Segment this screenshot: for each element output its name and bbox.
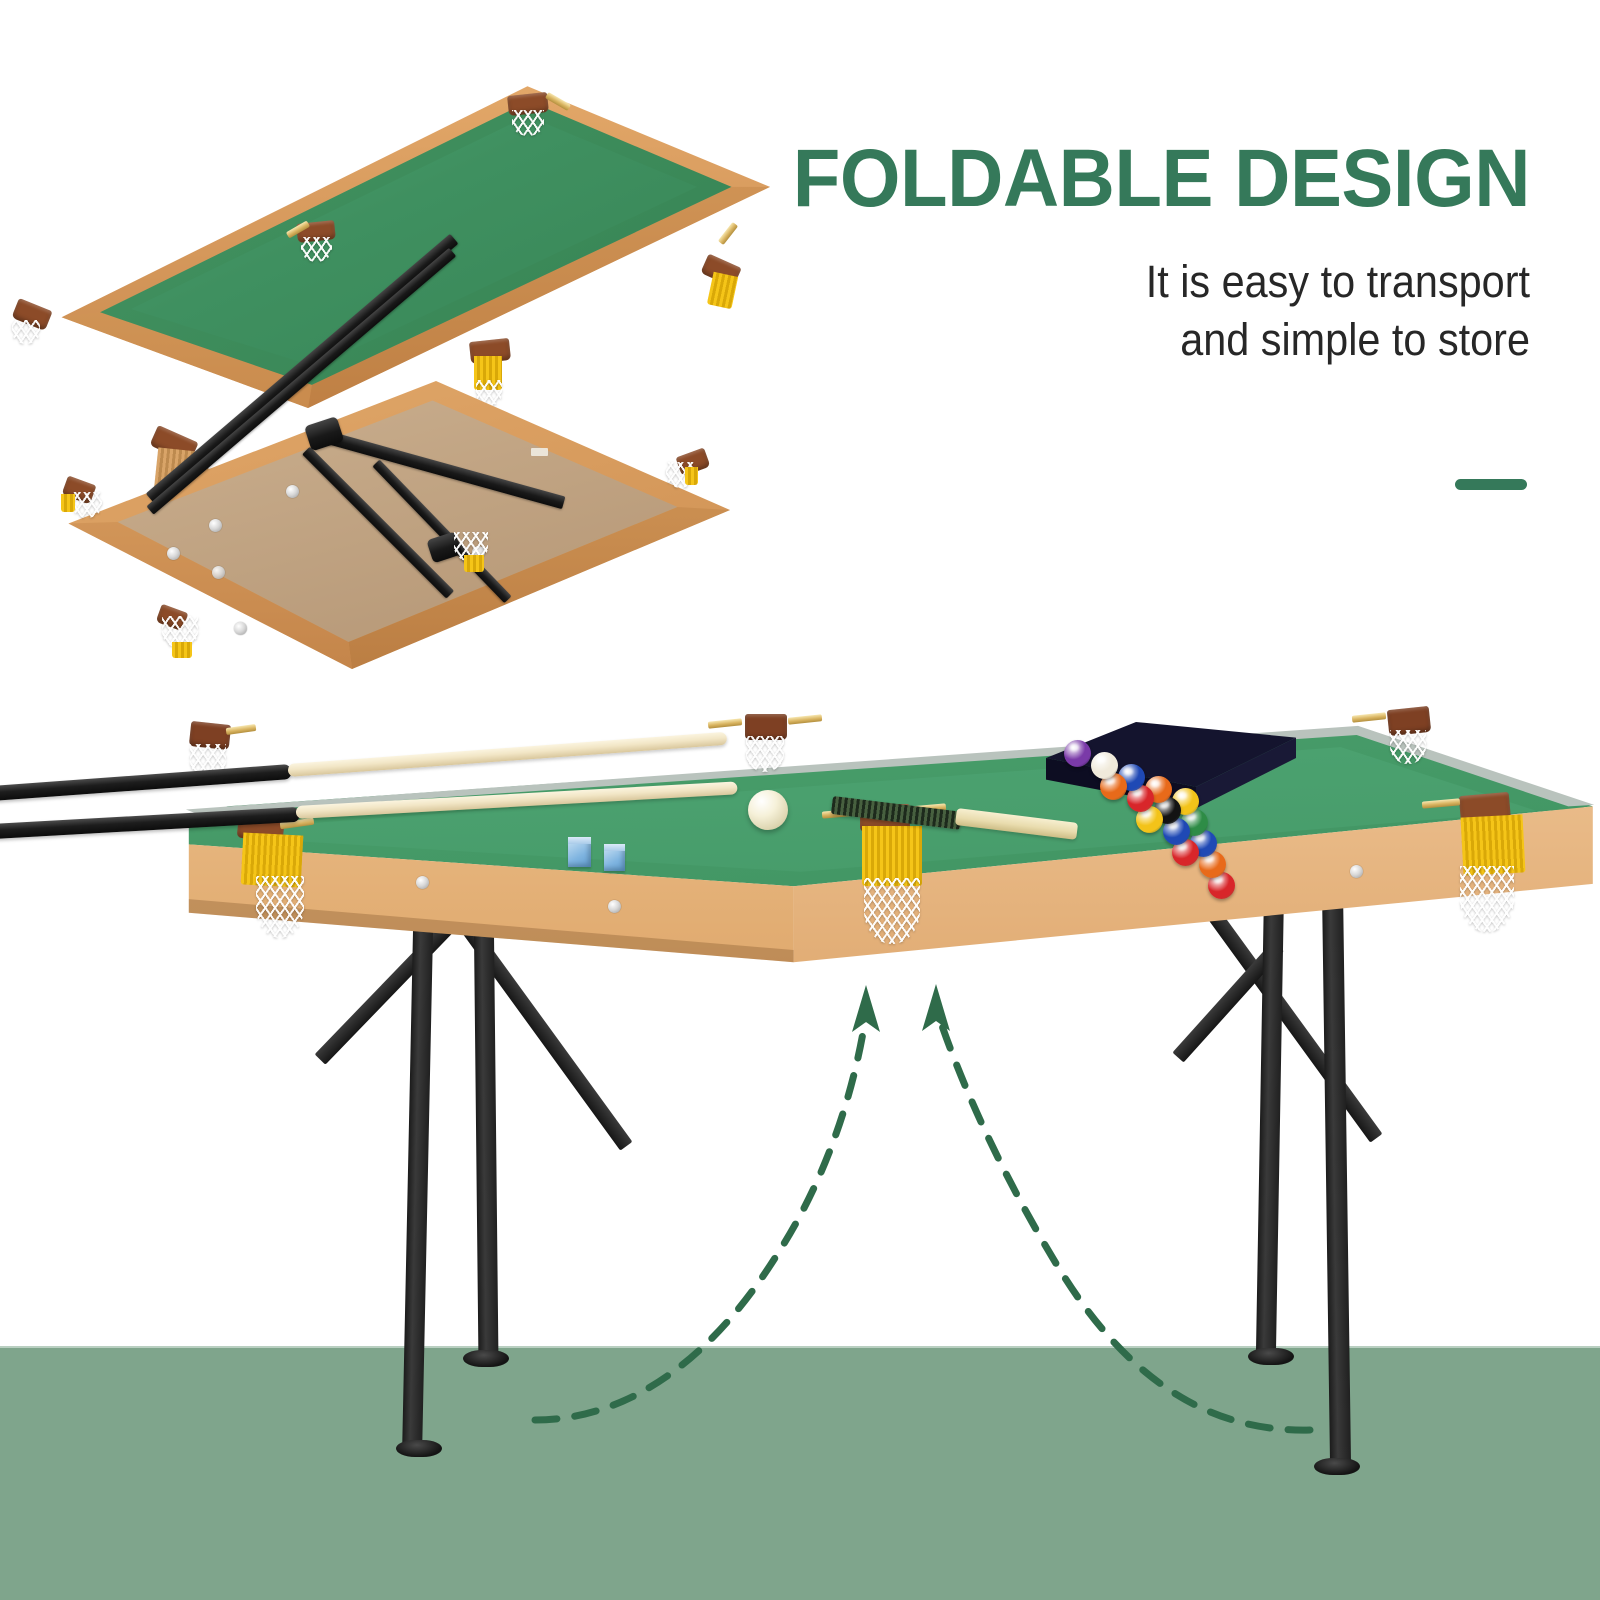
product-image-canvas: FOLDABLE DESIGN It is easy to transport … <box>0 0 1600 1600</box>
hardware-screw <box>286 485 299 498</box>
hardware-screw <box>234 622 247 635</box>
hardware-screw <box>416 876 429 889</box>
accent-dash <box>1455 479 1527 490</box>
assembled-pool-table <box>160 700 1600 1460</box>
leg-foot-cap <box>1248 1348 1294 1365</box>
pocket-net <box>256 876 304 938</box>
pocket-fringe <box>172 642 192 658</box>
pocket-net <box>1460 866 1514 932</box>
billiard-ball-1 <box>1064 740 1091 767</box>
billiard-ball-2 <box>1091 752 1118 779</box>
pocket-fringe <box>685 467 698 485</box>
rack-ball-group <box>1046 722 1296 842</box>
subtitle-line-1: It is easy to transport <box>794 253 1530 312</box>
pocket-net <box>301 237 332 262</box>
headline-block: FOLDABLE DESIGN It is easy to transport … <box>730 140 1530 370</box>
chalk-cube <box>604 850 625 871</box>
pocket-net <box>746 736 784 772</box>
pocket-fringe <box>707 272 738 309</box>
hardware-screw <box>608 900 621 913</box>
hardware-screw <box>167 547 180 560</box>
hardware-screw <box>1350 865 1363 878</box>
pocket-net <box>512 110 544 136</box>
hardware-screw <box>209 519 222 532</box>
pocket-net <box>12 320 40 344</box>
page-subtitle: It is easy to transport and simple to st… <box>794 253 1530 370</box>
cue-ball <box>748 790 788 830</box>
gold-pocket-plate <box>788 714 823 725</box>
pocket-net <box>72 492 102 518</box>
product-label <box>531 448 548 456</box>
folded-table-top-view <box>0 78 770 408</box>
page-title: FOLDABLE DESIGN <box>770 140 1530 219</box>
cue-stick-butt <box>0 764 292 801</box>
table-leg <box>1322 886 1351 1466</box>
leg-diagonal-brace <box>315 918 458 1065</box>
chalk-top-face <box>568 837 591 844</box>
folded-table-underside-view <box>30 372 730 672</box>
hardware-screw <box>212 566 225 579</box>
pocket-net <box>864 878 920 944</box>
chalk-cube <box>568 843 591 867</box>
leg-foot-cap <box>396 1440 442 1457</box>
pocket-net <box>1390 730 1426 764</box>
pocket-fringe <box>464 555 484 572</box>
pocket-fringe <box>61 494 75 512</box>
ball-rack <box>1046 722 1296 842</box>
leg-foot-cap <box>463 1350 509 1367</box>
pocket-fringe <box>862 826 922 886</box>
leg-foot-cap <box>1314 1458 1360 1475</box>
gold-pocket-plate <box>708 718 743 729</box>
gold-pocket-plate <box>1352 712 1387 723</box>
gold-pocket-plate <box>718 222 738 245</box>
subtitle-line-2: and simple to store <box>794 311 1530 370</box>
chalk-top-face <box>604 844 625 851</box>
cue-stick-shaft <box>288 732 728 777</box>
